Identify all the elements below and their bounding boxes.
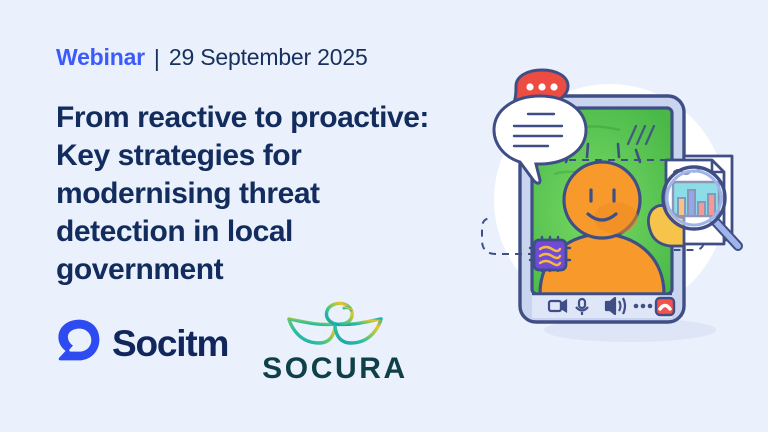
eyebrow-separator: |	[154, 45, 160, 73]
eyebrow-date: 29 September 2025	[169, 44, 368, 72]
socura-logo[interactable]: SOCURA	[262, 300, 408, 384]
text-content: Webinar | 29 September 2025 From reactiv…	[56, 44, 456, 289]
page-title: From reactive to proactive: Key strategi…	[56, 99, 446, 289]
socitm-wordmark: Socitm	[112, 325, 228, 362]
logo-row: Socitm	[56, 300, 408, 384]
socitm-mark-icon	[56, 317, 102, 368]
cpu-chip-icon	[530, 237, 570, 271]
eyebrow-label: Webinar	[56, 44, 145, 72]
socura-wordmark: SOCURA	[262, 354, 408, 384]
end-call-button	[656, 298, 674, 315]
socura-bird-icon	[281, 300, 389, 351]
video-call-illustration	[470, 68, 760, 368]
typing-dots-icon	[526, 83, 557, 90]
socitm-logo[interactable]: Socitm	[56, 317, 228, 368]
call-control-bar	[532, 294, 674, 318]
eyebrow: Webinar | 29 September 2025	[56, 44, 456, 72]
more-options-icon	[634, 304, 653, 309]
webinar-promo-banner: Webinar | 29 September 2025 From reactiv…	[0, 0, 768, 432]
